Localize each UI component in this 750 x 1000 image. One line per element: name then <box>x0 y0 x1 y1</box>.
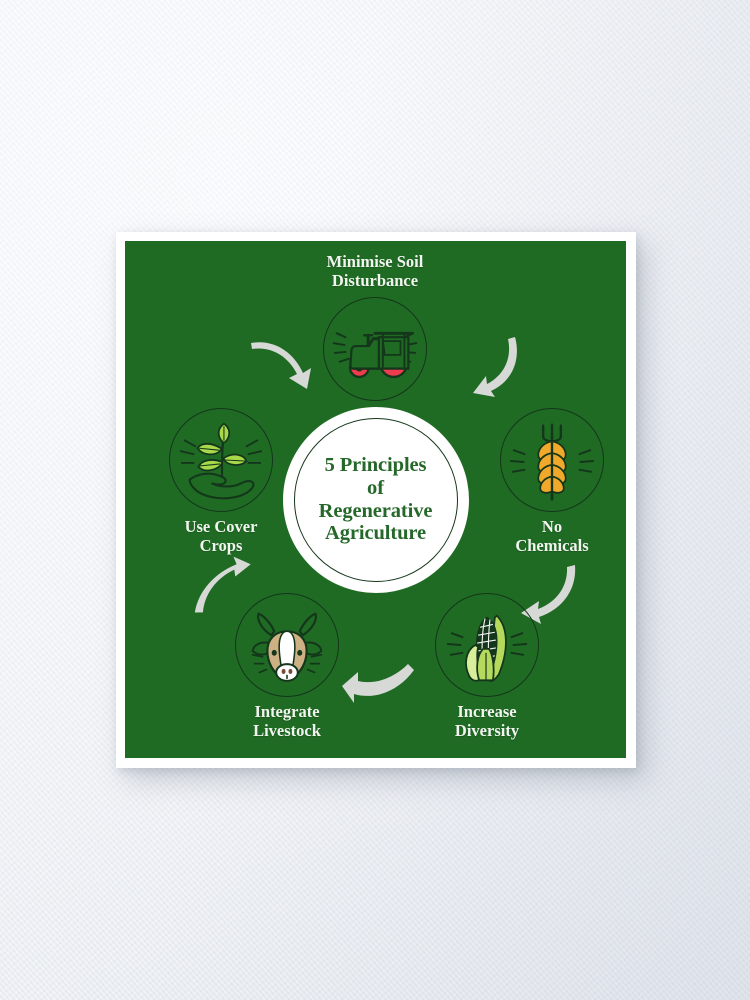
center-hub: 5 Principles of Regenerative Agriculture <box>283 407 469 593</box>
center-hub-title: 5 Principles of Regenerative Agriculture <box>296 454 456 546</box>
node-label-no-chemicals: No Chemicals <box>515 518 588 556</box>
poster-frame: Minimise Soil Disturbance <box>116 232 636 768</box>
center-title-line-2: of <box>296 477 456 500</box>
arrow-livestock-to-cover-crops <box>340 656 416 712</box>
label-line-1: Increase <box>455 703 519 722</box>
label-line-1: No <box>515 518 588 537</box>
label-line-1: Integrate <box>253 703 321 722</box>
node-increase-diversity[interactable]: Increase Diversity <box>435 593 539 697</box>
node-label-minimise-soil-disturbance: Minimise Soil Disturbance <box>327 253 424 291</box>
label-line-2: Chemicals <box>515 537 588 556</box>
infographic-canvas: Minimise Soil Disturbance <box>125 241 626 758</box>
cow-icon <box>235 593 339 697</box>
wheat-icon <box>500 408 604 512</box>
node-label-increase-diversity: Increase Diversity <box>455 703 519 741</box>
arrow-soil-to-chemicals <box>247 333 317 393</box>
node-label-use-cover-crops: Use Cover Crops <box>185 518 258 556</box>
center-title-line-1: 5 Principles <box>296 454 456 477</box>
hand-seedling-icon <box>169 408 273 512</box>
label-line-1: Use Cover <box>185 518 258 537</box>
label-line-1: Minimise Soil <box>327 253 424 272</box>
label-line-2: Diversity <box>455 722 519 741</box>
arrow-chemicals-to-diversity <box>459 333 529 397</box>
tractor-icon <box>323 297 427 401</box>
label-line-2: Disturbance <box>327 272 424 291</box>
node-integrate-livestock[interactable]: Integrate Livestock <box>235 593 339 697</box>
label-line-2: Crops <box>185 537 258 556</box>
center-title-line-3: Regenerative <box>296 500 456 523</box>
node-label-integrate-livestock: Integrate Livestock <box>253 703 321 741</box>
node-no-chemicals[interactable]: No Chemicals <box>500 408 604 512</box>
center-title-line-4: Agriculture <box>296 522 456 545</box>
corn-icon <box>435 593 539 697</box>
label-line-2: Livestock <box>253 722 321 741</box>
node-minimise-soil-disturbance[interactable]: Minimise Soil Disturbance <box>323 297 427 401</box>
node-use-cover-crops[interactable]: Use Cover Crops <box>169 408 273 512</box>
